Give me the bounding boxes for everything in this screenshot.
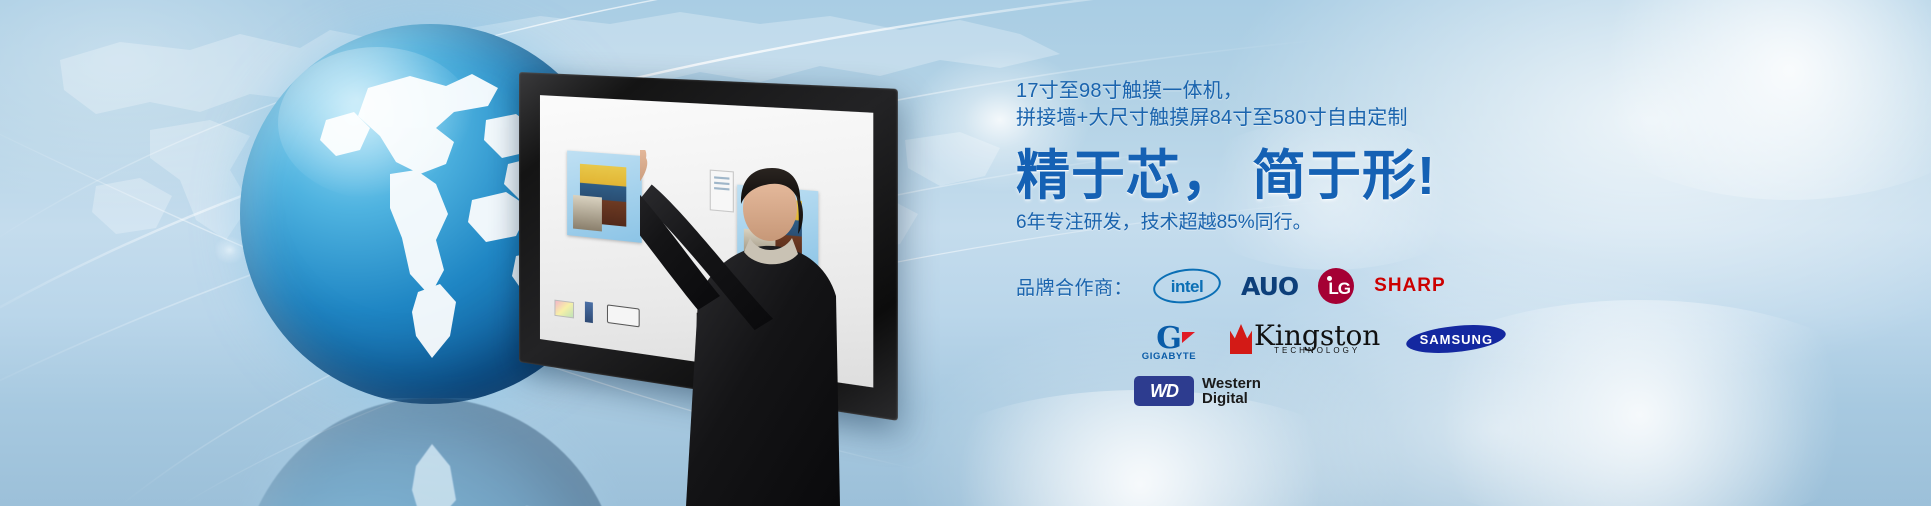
kingston-logo-subtext: TECHNOLOGY [1274,346,1360,355]
lg-logo[interactable]: LG [1318,268,1354,304]
sharp-logo[interactable]: SHARP [1374,275,1446,297]
photo-thumbnail-left[interactable] [567,151,641,243]
gigabyte-g-icon: G [1156,326,1182,352]
intel-logo[interactable]: intel [1153,269,1221,303]
wd-badge-icon: WD [1134,376,1194,406]
auo-logo[interactable]: AUO [1241,272,1298,301]
tagline: 6年专注研发，技术超越85%同行。 [1016,210,1536,236]
promo-line-2: 拼接墙+大尺寸触摸屏84寸至580寸自由定制 [1016,105,1536,132]
cloud-blob [900,390,1380,506]
gigabyte-logo[interactable]: G GIGABYTE [1134,316,1204,362]
promo-line-1: 17寸至98寸触摸一体机， [1016,78,1536,105]
kingston-logo[interactable]: Kingston TECHNOLOGY [1230,319,1380,359]
gigabyte-logo-text: GIGABYTE [1134,351,1204,362]
promo-banner: 17寸至98寸触摸一体机， 拼接墙+大尺寸触摸屏84寸至580寸自由定制 精于芯… [0,0,1931,506]
samsung-logo[interactable]: SAMSUNG [1406,326,1506,352]
headline: 精于芯， 简于形! [1016,146,1536,206]
gigabyte-triangle-icon [1182,332,1195,343]
lg-logo-text: LG [1328,279,1350,299]
media-window-icon[interactable] [607,305,640,328]
wd-logo-text: WD [1150,381,1178,402]
samsung-logo-text: SAMSUNG [1420,332,1493,347]
person-touching-screen [640,150,840,506]
music-note-icon[interactable] [585,302,593,324]
promo-copy-block: 17寸至98寸触摸一体机， 拼接墙+大尺寸触摸屏84寸至580寸自由定制 精于芯… [1016,78,1536,236]
photos-icon[interactable] [555,300,575,319]
wd-wordmark: Western Digital [1202,376,1261,406]
cloud-blob [1560,0,1931,200]
globe-reflection [240,398,620,506]
western-digital-logo[interactable]: WD Western Digital [1134,376,1261,406]
kingston-crown-icon [1230,324,1252,354]
wd-line-2: Digital [1202,390,1248,407]
brand-partners-label: 品牌合作商： [1016,273,1133,300]
intel-logo-text: intel [1171,277,1203,297]
brand-partners: 品牌合作商： intel AUO LG SHARP G GIGABYTE [1016,268,1536,406]
